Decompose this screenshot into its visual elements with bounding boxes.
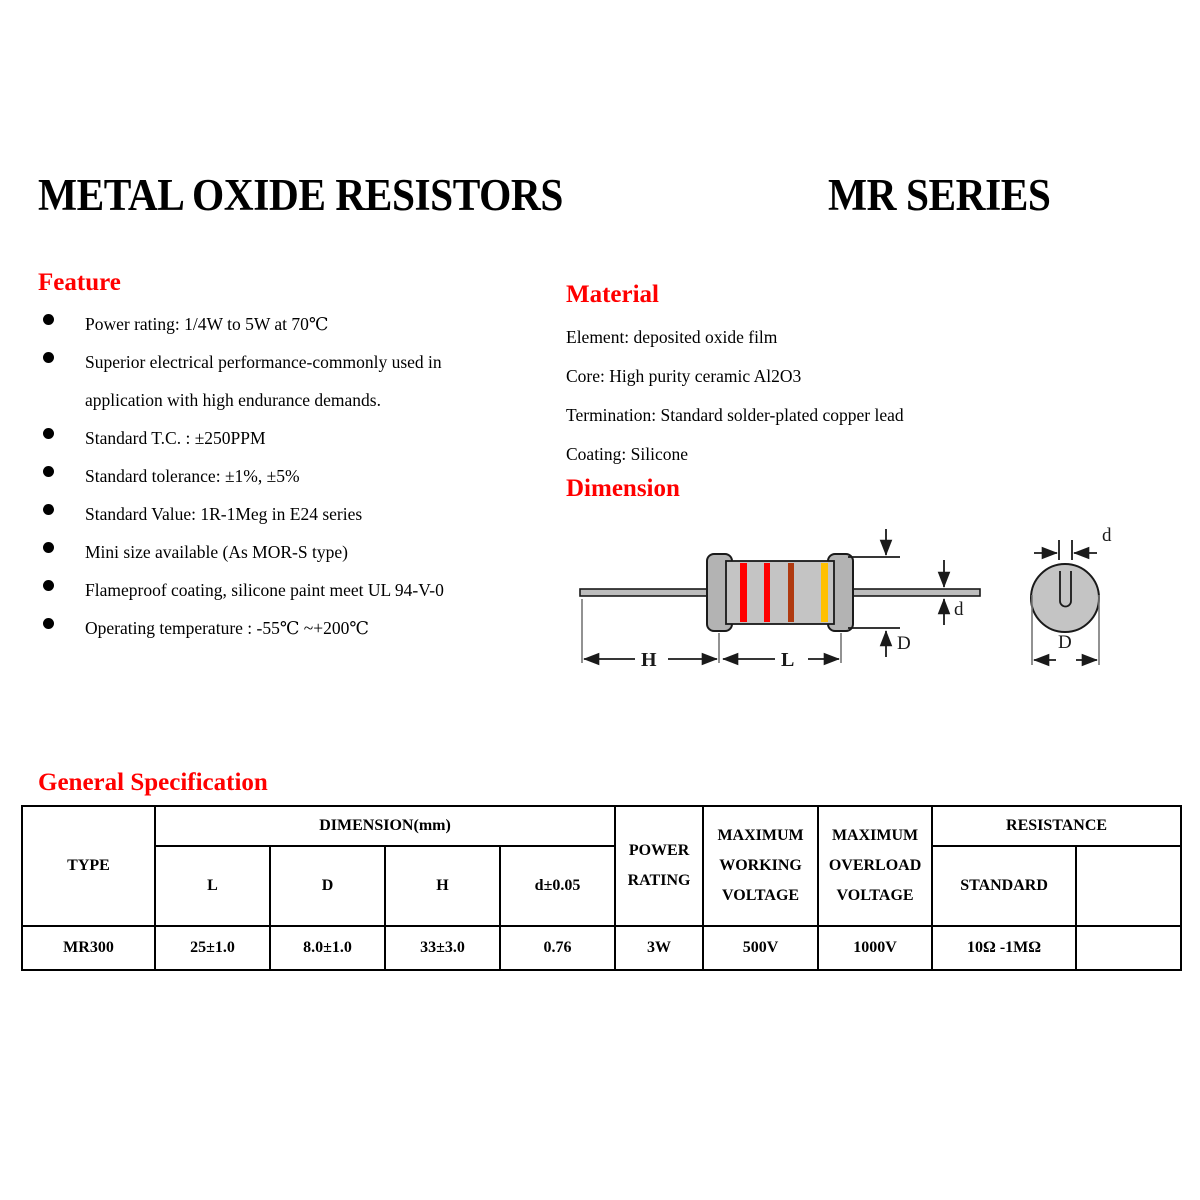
header-resistance-standard: STANDARD xyxy=(932,846,1076,926)
feature-text: Flameproof coating, silicone paint meet … xyxy=(85,571,538,609)
list-item: Standard T.C. : ±250PPM xyxy=(38,419,538,457)
cell-power-rating: 3W xyxy=(615,926,703,970)
feature-text: Standard Value: 1R-1Meg in E24 series xyxy=(85,495,538,533)
list-item: Standard Value: 1R-1Meg in E24 series xyxy=(38,495,538,533)
series-title: MR SERIES xyxy=(828,168,1050,222)
feature-text: Standard T.C. : ±250PPM xyxy=(85,419,538,457)
bullet-icon xyxy=(43,542,54,553)
dimension-heading: Dimension xyxy=(566,474,680,504)
cell-dim-l: 25±1.0 xyxy=(155,926,270,970)
list-item: Mini size available (As MOR-S type) xyxy=(38,533,538,571)
bullet-icon xyxy=(43,580,54,591)
cell-max-overload-voltage: 1000V xyxy=(818,926,932,970)
list-item: Standard tolerance: ±1%, ±5% xyxy=(38,457,538,495)
resistor-dimension-diagram: D d H L d D xyxy=(560,515,1180,695)
list-item: Operating temperature : -55℃ ~+200℃ xyxy=(38,609,538,647)
left-lead-icon xyxy=(580,589,713,596)
resistor-end-view xyxy=(1031,564,1099,632)
cell-resistance-empty xyxy=(1076,926,1181,970)
material-text: Coating: Silicone xyxy=(566,435,1126,474)
table-row: MR300 25±1.0 8.0±1.0 33±3.0 0.76 3W 500V… xyxy=(22,926,1181,970)
header-power-rating-line1: POWER xyxy=(616,836,702,866)
header-max-overload-line1: MAXIMUM xyxy=(819,821,931,851)
header-resistance-group: RESISTANCE xyxy=(932,806,1181,846)
dimension-label-D: D xyxy=(897,633,911,654)
bullet-icon xyxy=(43,504,54,515)
feature-text: Superior electrical performance-commonly… xyxy=(85,343,538,419)
feature-heading: Feature xyxy=(38,268,121,298)
header-dimension-group: DIMENSION(mm) xyxy=(155,806,615,846)
material-list: Element: deposited oxide film Core: High… xyxy=(566,318,1126,474)
header-power-rating-line2: RATING xyxy=(616,866,702,896)
bullet-icon xyxy=(43,314,54,325)
dimension-label-L: L xyxy=(781,649,794,671)
cell-type: MR300 xyxy=(22,926,155,970)
end-view-label-D: D xyxy=(1058,632,1072,653)
color-band-4 xyxy=(821,563,828,622)
end-view-dimension-d xyxy=(1034,540,1097,560)
bullet-icon xyxy=(43,352,54,363)
general-specification-heading: General Specification xyxy=(38,768,268,798)
table-header-row-1: TYPE DIMENSION(mm) POWER RATING MAXIMUM … xyxy=(22,806,1181,846)
list-item: Superior electrical performance-commonly… xyxy=(38,343,538,419)
end-view-label-d: d xyxy=(1102,525,1112,546)
cell-dim-h: 33±3.0 xyxy=(385,926,500,970)
material-heading: Material xyxy=(566,280,659,310)
cell-resistance-standard: 10Ω -1MΩ xyxy=(932,926,1076,970)
header-resistance-empty xyxy=(1076,846,1181,926)
color-band-3 xyxy=(788,563,794,622)
feature-text: Operating temperature : -55℃ ~+200℃ xyxy=(85,609,538,647)
header-type: TYPE xyxy=(22,806,155,926)
dimension-label-d: d xyxy=(954,599,964,620)
feature-list: Power rating: 1/4W to 5W at 70℃ Superior… xyxy=(38,305,538,647)
feature-text: Standard tolerance: ±1%, ±5% xyxy=(85,457,538,495)
header-dim-d: D xyxy=(270,846,385,926)
bullet-icon xyxy=(43,618,54,629)
bullet-icon xyxy=(43,466,54,477)
cell-dim-d-tolerance: 0.76 xyxy=(500,926,615,970)
feature-text: Mini size available (As MOR-S type) xyxy=(85,533,538,571)
right-lead-icon xyxy=(848,589,980,596)
header-power-rating: POWER RATING xyxy=(615,806,703,926)
bullet-icon xyxy=(43,428,54,439)
header-dim-d-tolerance: d±0.05 xyxy=(500,846,615,926)
dimension-label-H: H xyxy=(641,649,657,671)
material-text: Core: High purity ceramic Al2O3 xyxy=(566,357,1126,396)
list-item: Power rating: 1/4W to 5W at 70℃ xyxy=(38,305,538,343)
header-dim-l: L xyxy=(155,846,270,926)
header-max-working-line2: WORKING xyxy=(704,851,817,881)
header-max-working-line3: VOLTAGE xyxy=(704,881,817,911)
cell-dim-d: 8.0±1.0 xyxy=(270,926,385,970)
cell-max-working-voltage: 500V xyxy=(703,926,818,970)
general-specification-table: TYPE DIMENSION(mm) POWER RATING MAXIMUM … xyxy=(21,805,1180,971)
header-max-working-line1: MAXIMUM xyxy=(704,821,817,851)
header-max-working-voltage: MAXIMUM WORKING VOLTAGE xyxy=(703,806,818,926)
color-band-2 xyxy=(764,563,770,622)
color-band-1 xyxy=(740,563,747,622)
header-dim-h: H xyxy=(385,846,500,926)
feature-text: Power rating: 1/4W to 5W at 70℃ xyxy=(85,305,538,343)
material-text: Element: deposited oxide film xyxy=(566,318,1126,357)
list-item: Flameproof coating, silicone paint meet … xyxy=(38,571,538,609)
header-max-overload-voltage: MAXIMUM OVERLOAD VOLTAGE xyxy=(818,806,932,926)
header-max-overload-line3: VOLTAGE xyxy=(819,881,931,911)
document-title-row: METAL OXIDE RESISTORS MR SERIES xyxy=(38,168,1158,226)
table-header-row-2: L D H d±0.05 STANDARD xyxy=(22,846,1181,926)
material-text: Termination: Standard solder-plated copp… xyxy=(566,396,1126,435)
page-title: METAL OXIDE RESISTORS xyxy=(38,168,563,222)
header-max-overload-line2: OVERLOAD xyxy=(819,851,931,881)
